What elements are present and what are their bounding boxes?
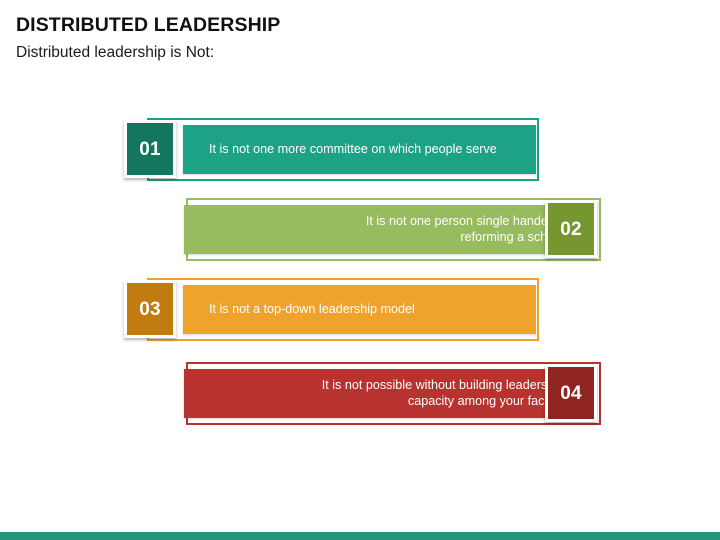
bar-item-02[interactable]: It is not one person single handedly ref…: [0, 196, 720, 274]
bar-label: It is not a top-down leadership model: [209, 292, 524, 327]
numbered-bar-list: It is not one more committee on which pe…: [0, 0, 720, 540]
slide-canvas: DISTRIBUTED LEADERSHIP Distributed leade…: [0, 0, 720, 540]
bar-number-text: 03: [139, 300, 161, 319]
bar-number-text: 01: [139, 140, 161, 159]
bar-item-01[interactable]: It is not one more committee on which pe…: [0, 118, 720, 196]
bar-label: It is not one more committee on which pe…: [209, 132, 524, 167]
bar-number-badge: 04: [545, 364, 597, 422]
bar-number-text: 04: [560, 384, 582, 403]
bar-label: It is not possible without building lead…: [196, 376, 564, 411]
bar-item-04[interactable]: It is not possible without building lead…: [0, 360, 720, 438]
bar-number-badge: 02: [545, 200, 597, 258]
bar-number-badge: 01: [124, 120, 176, 178]
bar-item-03[interactable]: It is not a top-down leadership model03: [0, 278, 720, 356]
bar-number-text: 02: [560, 220, 582, 239]
bottom-accent-stripe: [0, 532, 720, 540]
bar-number-badge: 03: [124, 280, 176, 338]
bar-label: It is not one person single handedly ref…: [196, 212, 564, 247]
